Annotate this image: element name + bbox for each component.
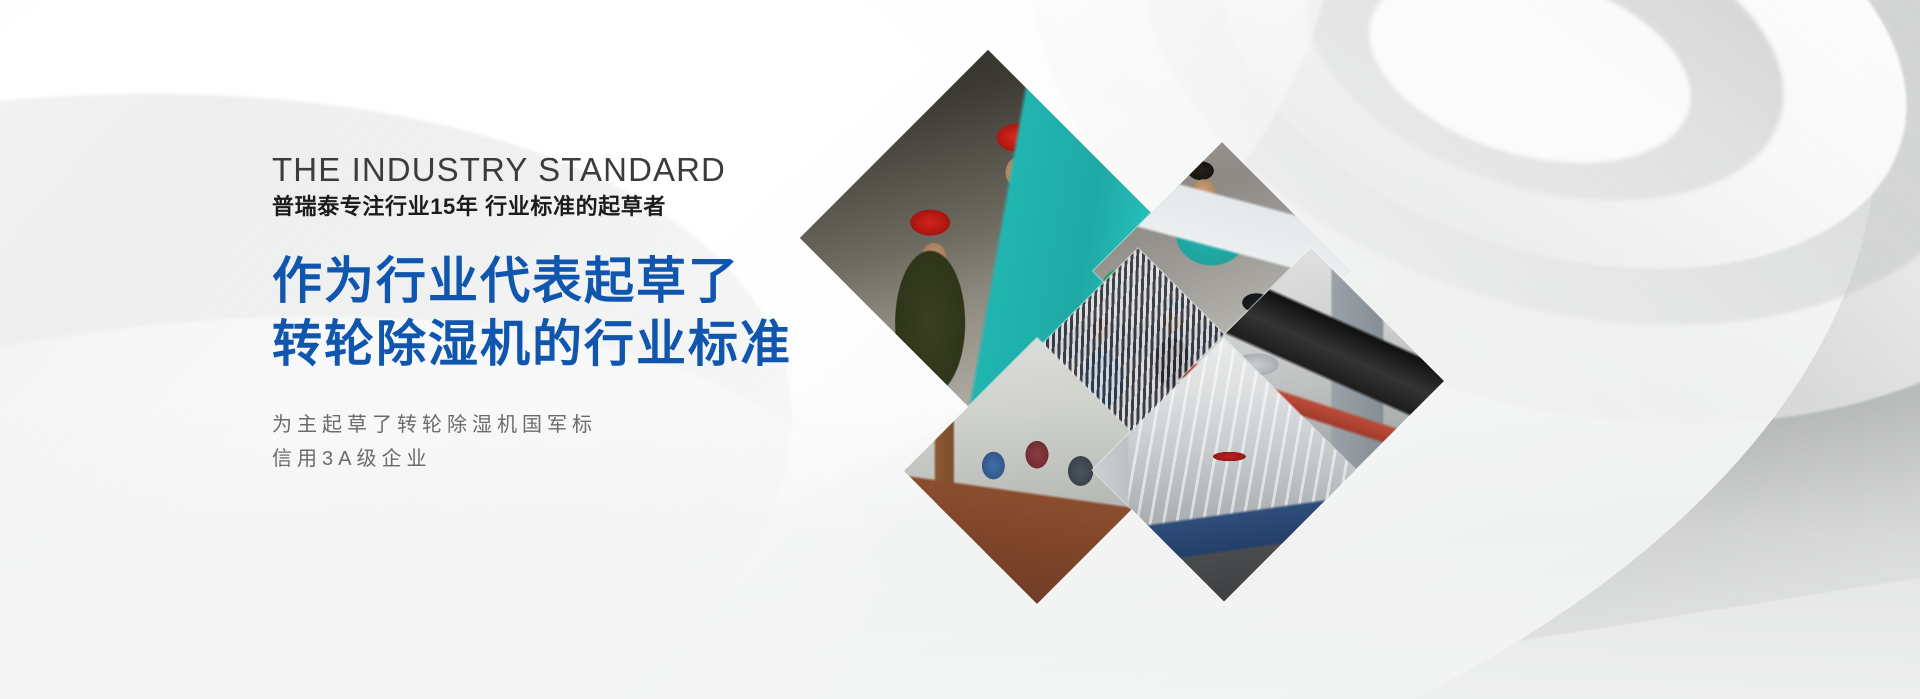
banner-subtext-line-1: 为主起草了转轮除湿机国军标 — [272, 408, 832, 442]
banner-eyebrow-english: THE INDUSTRY STANDARD — [272, 152, 832, 188]
banner-headline-line-1: 作为行业代表起草了 — [272, 250, 832, 313]
banner-subtext: 为主起草了转轮除湿机国军标 信用3A级企业 — [272, 408, 832, 476]
banner-eyebrow-chinese: 普瑞泰专注行业15年 行业标准的起草者 — [272, 194, 832, 220]
banner-headline: 作为行业代表起草了 转轮除湿机的行业标准 — [272, 250, 832, 376]
hero-banner: THE INDUSTRY STANDARD 普瑞泰专注行业15年 行业标准的起草… — [0, 0, 1920, 699]
banner-text-block: THE INDUSTRY STANDARD 普瑞泰专注行业15年 行业标准的起草… — [272, 152, 832, 476]
banner-headline-line-2: 转轮除湿机的行业标准 — [272, 313, 832, 376]
banner-subtext-line-2: 信用3A级企业 — [272, 442, 832, 476]
diamond-photo-collage — [845, 95, 1545, 575]
